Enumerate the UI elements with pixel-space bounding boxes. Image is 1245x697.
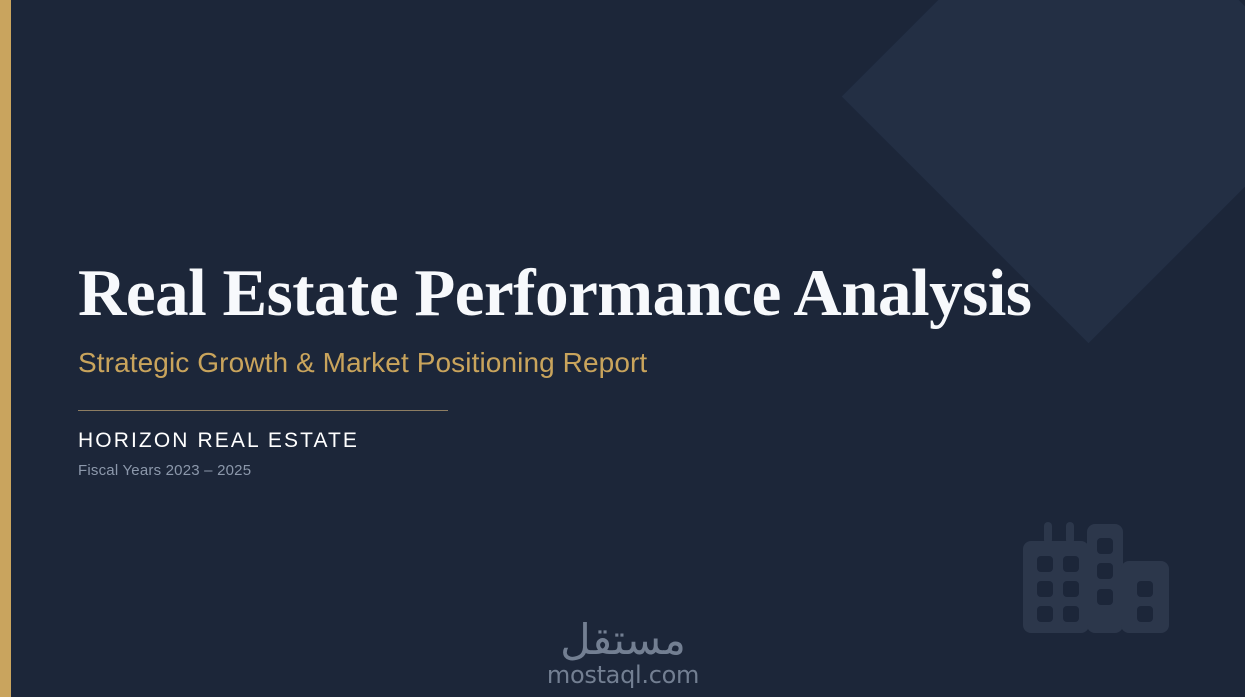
mostaql-watermark: مستقل mostaql.com: [546, 618, 700, 688]
title-slide: Real Estate Performance Analysis Strateg…: [0, 0, 1245, 697]
organization-name: HORIZON REAL ESTATE: [78, 429, 1058, 453]
watermark-arabic-text: مستقل: [546, 618, 700, 662]
page-subtitle: Strategic Growth & Market Positioning Re…: [78, 346, 1058, 380]
gold-accent-bar: [0, 0, 11, 697]
fiscal-years-label: Fiscal Years 2023 – 2025: [78, 462, 1058, 479]
building-icon: [1023, 511, 1169, 633]
page-title: Real Estate Performance Analysis: [78, 258, 1058, 328]
divider: [78, 410, 448, 411]
title-block: Real Estate Performance Analysis Strateg…: [78, 258, 1058, 479]
watermark-domain-text: mostaql.com: [546, 662, 700, 688]
